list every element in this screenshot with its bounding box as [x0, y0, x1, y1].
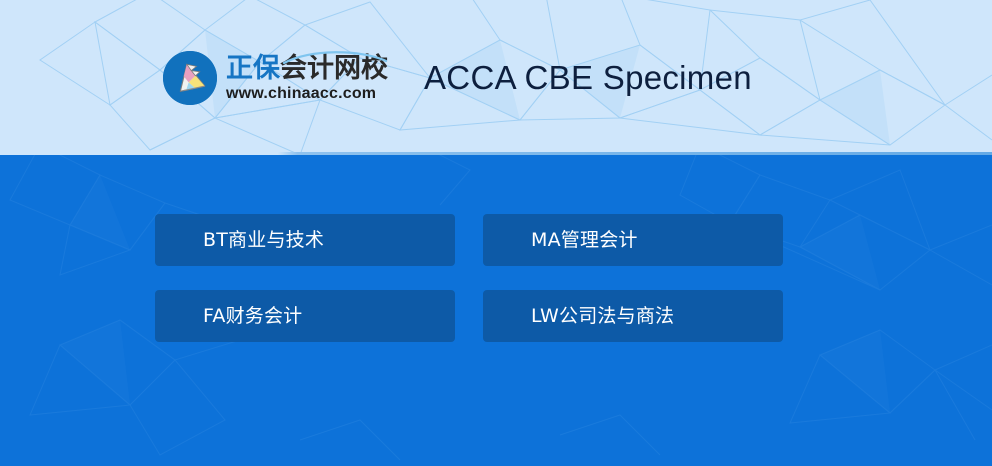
header-bottom-edge: [0, 152, 992, 155]
brand-wordmark: 正保会计网校 www.chinaacc.com: [226, 52, 388, 103]
page-title: ACCA CBE Specimen: [424, 59, 752, 97]
subject-button-lw[interactable]: LW公司法与商法: [483, 290, 783, 342]
subject-button-bt[interactable]: BT商业与技术: [155, 214, 455, 266]
chinaacc-logo-icon: [163, 51, 217, 105]
subject-button-fa[interactable]: FA财务会计: [155, 290, 455, 342]
main-content: BT商业与技术 MA管理会计 FA财务会计 LW公司法与商法: [0, 155, 992, 466]
brand-name-cn: 正保会计网校: [226, 54, 388, 84]
brand-url: www.chinaacc.com: [226, 85, 388, 103]
header-content: 正保会计网校 www.chinaacc.com ACCA CBE Specime…: [0, 0, 992, 155]
page-header: 正保会计网校 www.chinaacc.com ACCA CBE Specime…: [0, 0, 992, 155]
subject-button-grid: BT商业与技术 MA管理会计 FA财务会计 LW公司法与商法: [155, 214, 783, 342]
page-root: 正保会计网校 www.chinaacc.com ACCA CBE Specime…: [0, 0, 992, 466]
subject-button-ma[interactable]: MA管理会计: [483, 214, 783, 266]
brand-name-blue: 正保: [226, 53, 280, 84]
brand-name-dark: 会计网校: [280, 53, 388, 84]
brand-logo[interactable]: 正保会计网校 www.chinaacc.com: [163, 51, 388, 105]
